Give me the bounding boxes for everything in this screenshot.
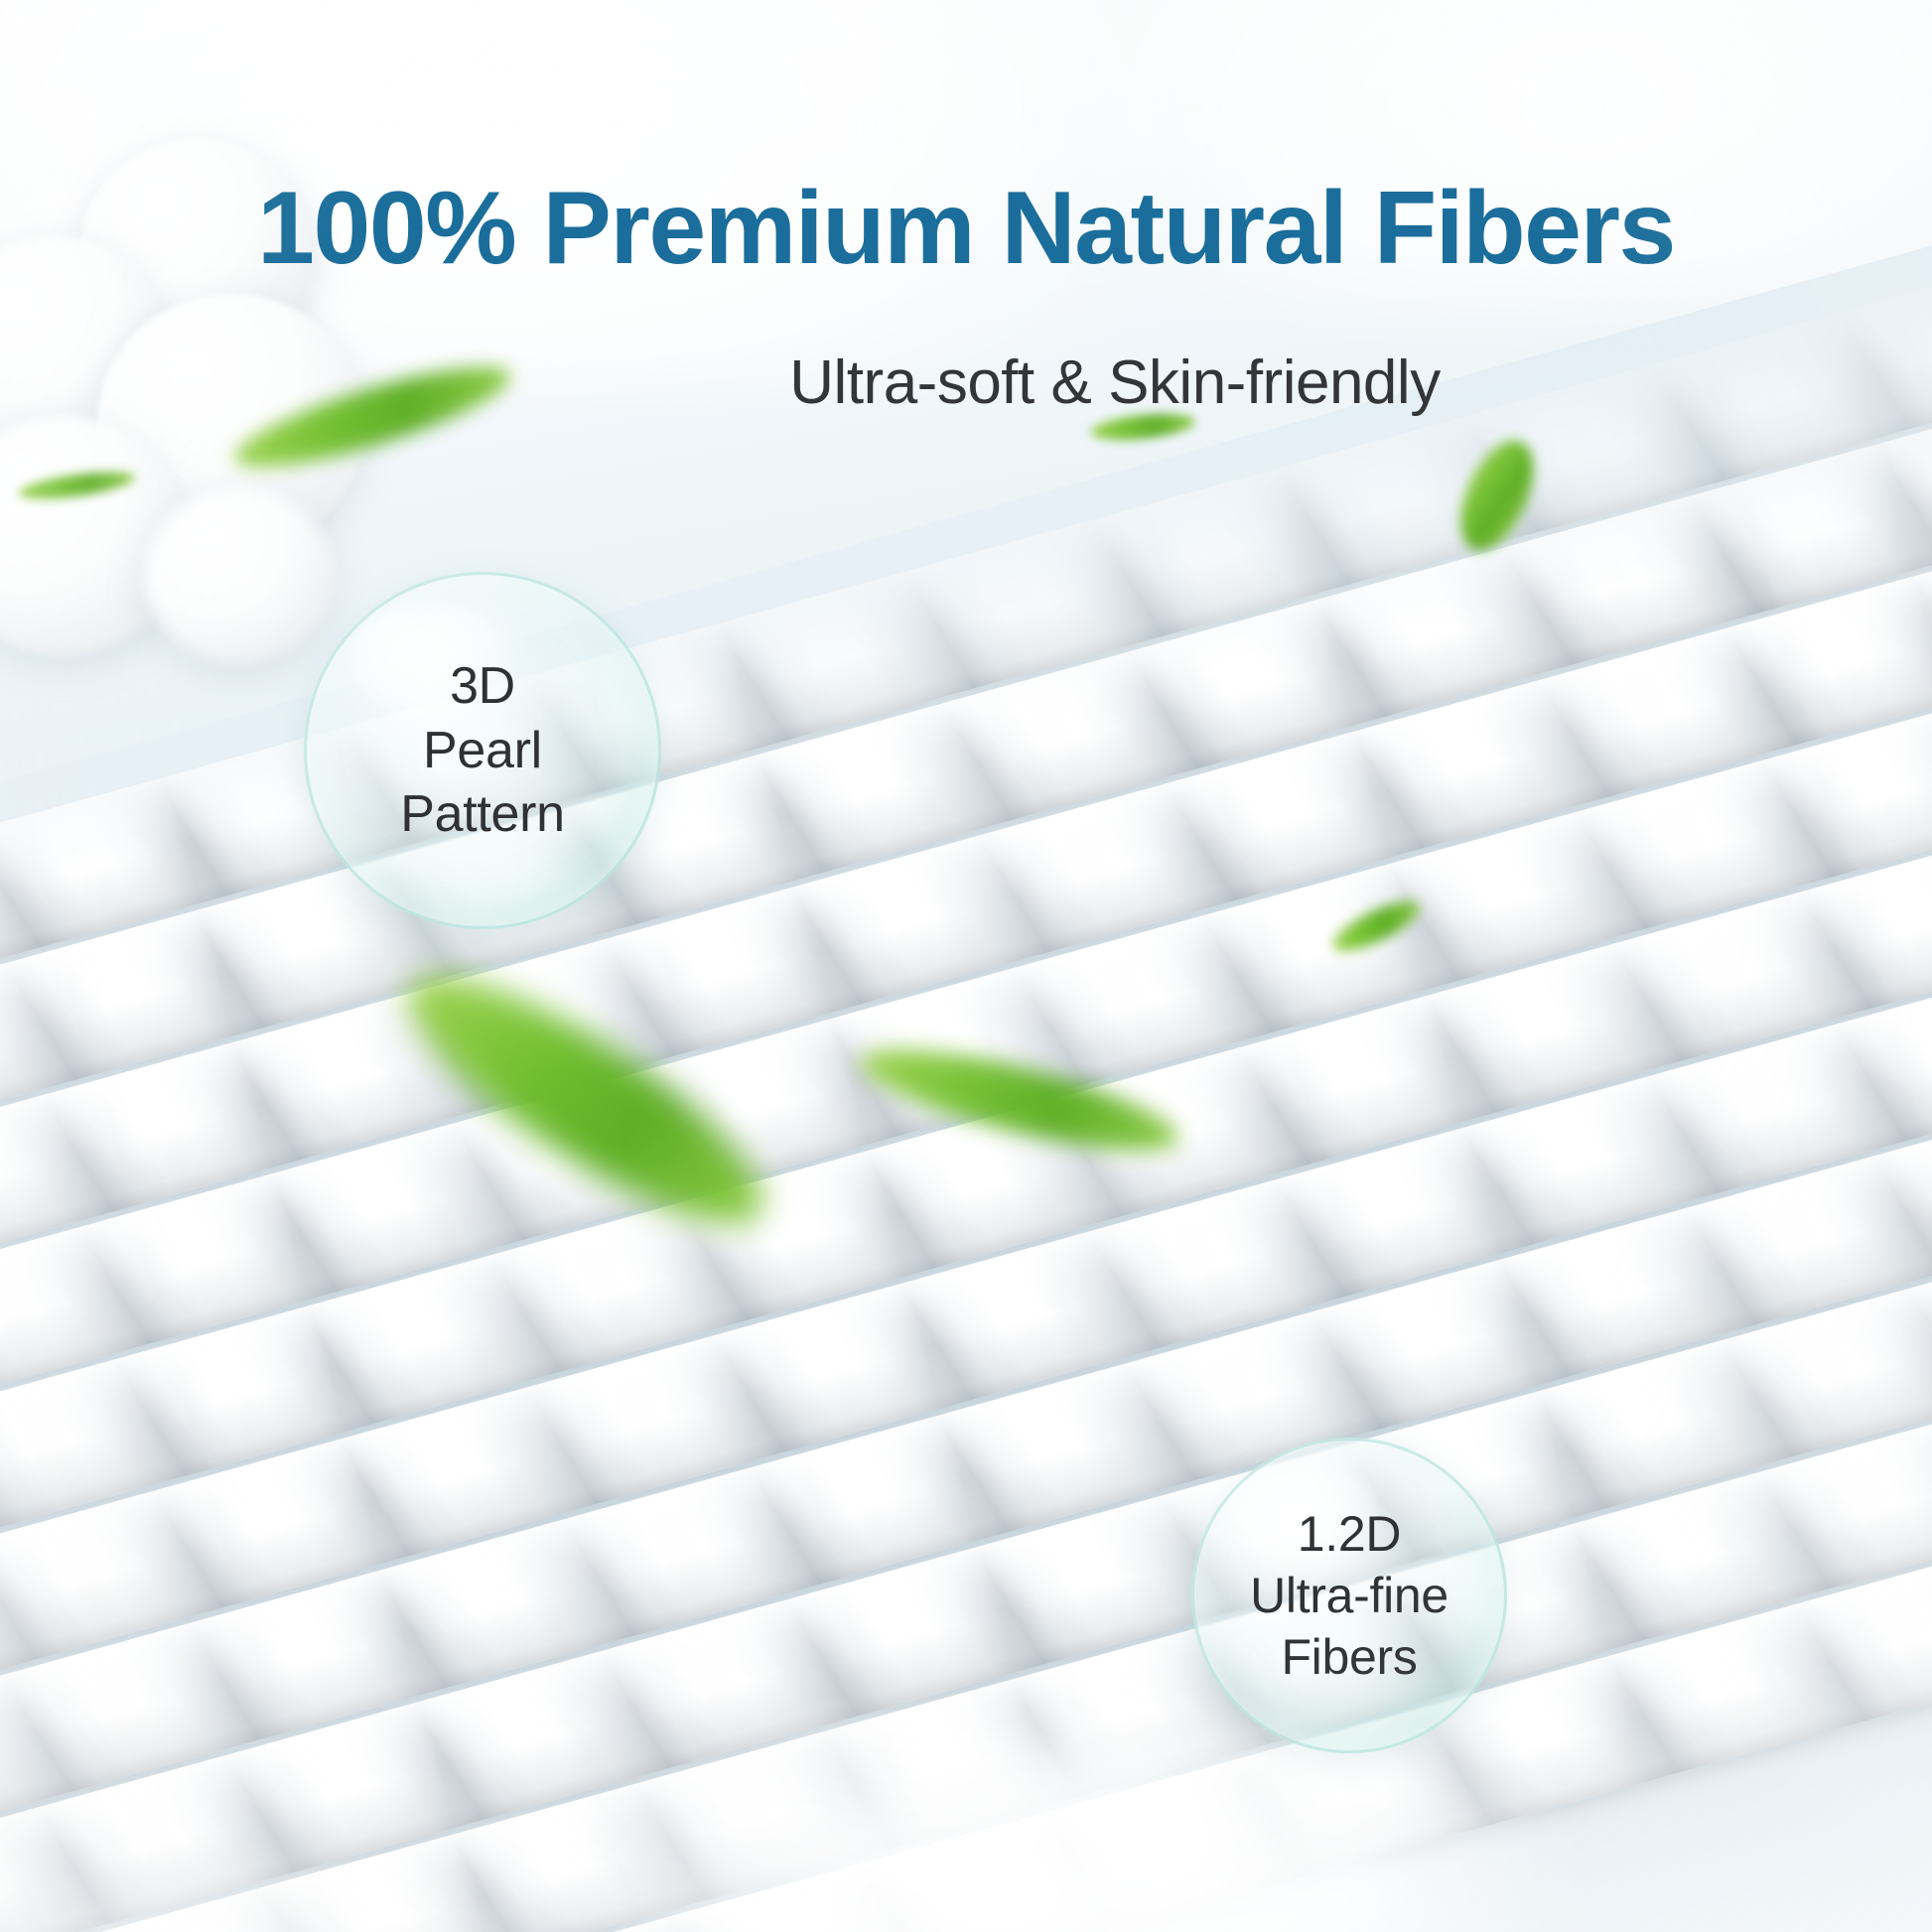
page-subtitle: Ultra-soft & Skin-friendly (0, 349, 1932, 417)
product-feature-banner: 100% Premium Natural Fibers Ultra-soft &… (0, 0, 1932, 1932)
cotton-ball-icon (145, 488, 334, 663)
callout-bubble-fibers-label: 1.2DUltra-fineFibers (1250, 1503, 1449, 1688)
callout-bubble-pearl-label: 3DPearlPattern (400, 654, 565, 846)
page-title: 100% Premium Natural Fibers (0, 175, 1932, 283)
callout-bubble-pearl-pattern: 3DPearlPattern (304, 572, 661, 929)
callout-bubble-ultrafine-fibers: 1.2DUltra-fineFibers (1191, 1438, 1507, 1753)
